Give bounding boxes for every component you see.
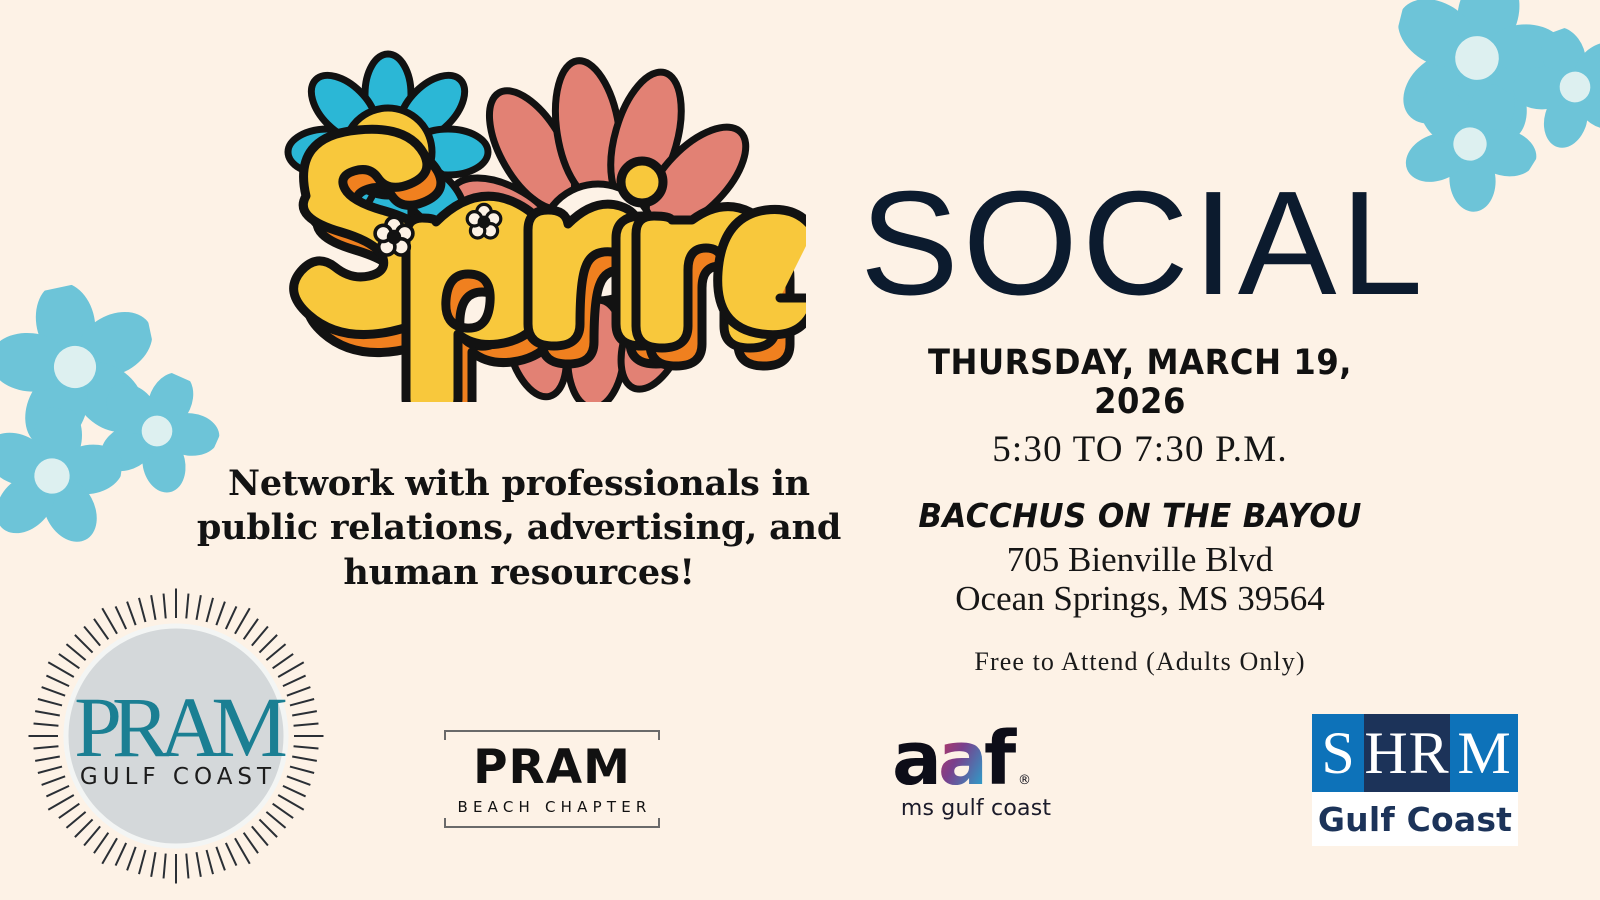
svg-text:a: a — [892, 722, 938, 794]
event-date: THURSDAY, MARCH 19, 2026 — [882, 344, 1397, 421]
spring-hero-artwork — [236, 42, 806, 402]
event-details-column: SOCIAL THURSDAY, MARCH 19, 2026 5:30 TO … — [860, 170, 1420, 681]
logo-pram-beach-chapter: PRAM BEACH CHAPTER — [444, 730, 660, 828]
page-title: SOCIAL — [860, 170, 1420, 318]
logo-shrm-gulf-coast: S HR M Gulf Coast — [1312, 714, 1518, 846]
event-description: Network with professionals in public rel… — [176, 462, 862, 595]
pram-gc-wordmark: PRAM — [74, 679, 285, 775]
venue-address-line-2: Ocean Springs, MS 39564 — [860, 579, 1420, 618]
aaf-sub: ms gulf coast — [886, 798, 1066, 820]
admission-note: Free to Attend (Adults Only) — [930, 644, 1350, 681]
spring-social-flyer: Network with professionals in public rel… — [0, 0, 1600, 900]
pram-beach-wordmark: PRAM — [437, 744, 667, 791]
deco-flower-left-3 — [0, 399, 129, 553]
shrm-lettermark: S HR M — [1312, 714, 1518, 792]
logo-pram-gulf-coast: PRAM GULF COAST — [28, 588, 324, 884]
venue-name: BACCHUS ON THE BAYOU — [877, 498, 1403, 534]
shrm-letter-m: M — [1450, 714, 1518, 792]
event-time: 5:30 TO 7:30 P.M. — [860, 429, 1420, 472]
svg-text:a: a — [938, 722, 984, 794]
venue-address-line-1: 705 Bienville Blvd — [860, 540, 1420, 579]
registered-mark: ® — [1018, 773, 1031, 788]
shrm-letter-hr: HR — [1364, 714, 1450, 792]
shrm-letter-s: S — [1312, 714, 1364, 792]
logo-aaf-ms-gulf-coast: a a f ® ms gulf coast — [886, 722, 1066, 830]
pram-beach-sub: BEACH CHAPTER — [437, 800, 667, 815]
pram-gc-sub: GULF COAST — [80, 764, 276, 790]
aaf-wordmark: a a f ® — [886, 722, 1066, 794]
shrm-sub: Gulf Coast — [1312, 792, 1518, 846]
svg-text:f: f — [984, 722, 1017, 794]
